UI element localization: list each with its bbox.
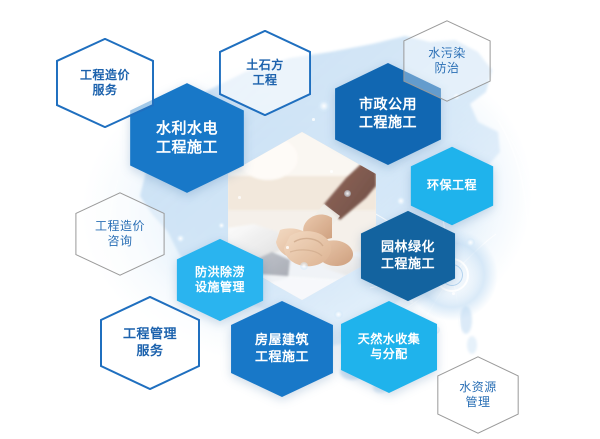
hexagon-label: 天然水收集 与分配 (358, 332, 421, 363)
hexagon-label: 水资源 管理 (459, 380, 497, 411)
hexagon-yuanlin-lvhua-gongcheng-shigong[interactable]: 园林绿化 工程施工 (360, 210, 456, 302)
hexagon-gongcheng-guanli-fuwu[interactable]: 工程管理 服务 (100, 296, 200, 390)
hexagon-tushifang-gongcheng[interactable]: 土石方 工程 (219, 30, 311, 116)
hexagon-label: 园林绿化 工程施工 (381, 239, 435, 272)
hexagon-label: 防洪除涝 设施管理 (195, 265, 245, 296)
hexagon-label: 工程造价 服务 (80, 68, 130, 99)
hexagon-label: 工程管理 服务 (123, 326, 177, 359)
hexagon-label: 房屋建筑 工程施工 (255, 332, 309, 365)
hexagon-tianranshui-shouji-yu-fenpei[interactable]: 天然水收集 与分配 (340, 300, 438, 394)
hexagon-label: 环保工程 (427, 178, 477, 193)
hexagon-gongcheng-zaojia-fuwu[interactable]: 工程造价 服务 (56, 38, 154, 128)
hexagon-shuiziyuan-guanli[interactable]: 水资源 管理 (437, 356, 519, 434)
hexagon-gongcheng-zaojia-zixun[interactable]: 工程造价 咨询 (75, 192, 165, 276)
hexagon-label: 水污染 防治 (428, 46, 466, 77)
hexagon-label: 水利水电 工程施工 (156, 119, 218, 157)
infographic-canvas: 工程造价 服务土石方 工程水污染 防治水利水电 工程施工市政公用 工程施工环保工… (0, 0, 600, 439)
hexagon-label: 工程造价 咨询 (95, 219, 145, 250)
hexagon-shuiwuran-fangzhi[interactable]: 水污染 防治 (403, 20, 491, 102)
hexagon-label: 土石方 工程 (246, 58, 284, 89)
hexagon-fangwu-jianzhu-gongcheng-shigong[interactable]: 房屋建筑 工程施工 (230, 300, 334, 398)
